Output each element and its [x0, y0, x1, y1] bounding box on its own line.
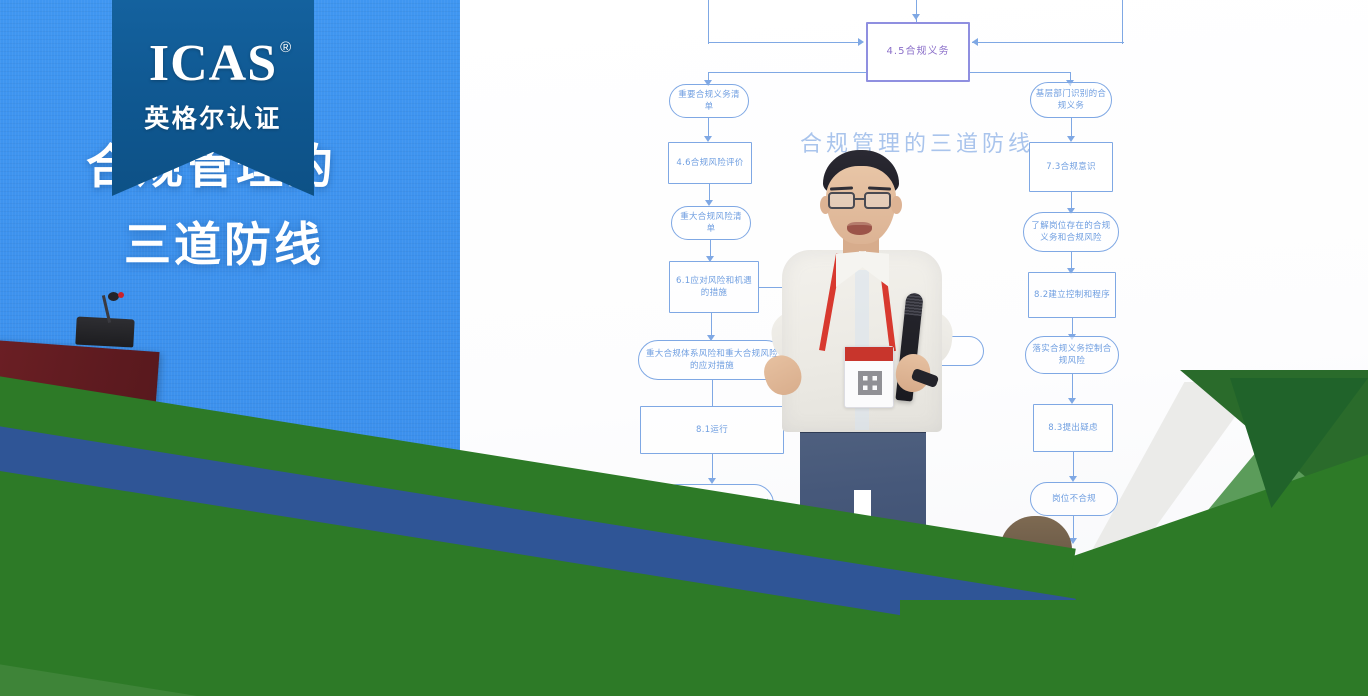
flow-arrow: [912, 14, 920, 20]
icas-wordmark: ICAS ®: [149, 38, 277, 90]
flow-node-left-3: 重大合规风险清单: [671, 206, 751, 240]
flow-connector: [1122, 0, 1123, 44]
icas-chinese-name: 英格尔认证: [144, 99, 282, 135]
flow-node-right-4: 8.2建立控制和程序: [1028, 272, 1116, 318]
flow-arrow: [858, 38, 864, 46]
podium-microphone-base: [75, 317, 134, 348]
flow-node-emphasis: 4.5合规义务: [866, 22, 970, 82]
flow-node-left-1: 重要合规义务清单: [669, 84, 749, 118]
podium-microphone-led-icon: [118, 292, 124, 298]
registered-trademark-icon: ®: [280, 40, 292, 55]
wall-headline-line2: 三道防线: [124, 206, 324, 275]
flow-connector: [712, 380, 713, 406]
badge-header-strip: [845, 347, 893, 361]
flow-node-right-7: 岗位不合规: [1030, 482, 1118, 516]
flow-node-right-5: 落实合规义务控制合规风险: [1025, 336, 1119, 374]
flow-node-right-2: 7.3合规意识: [1029, 142, 1113, 192]
flow-connector: [970, 72, 1070, 73]
qr-code-icon: [858, 371, 882, 395]
flow-node-right-6: 8.3提出疑虑: [1033, 404, 1113, 452]
flow-node-left-4: 6.1应对风险和机遇的措施: [669, 261, 759, 313]
glasses-lens-left-icon: [828, 192, 855, 209]
presenter-name-badge: [844, 346, 894, 408]
presentation-screenshot: 合规管理的三道防线 4.5合规义务 重要合规义务清单 4.6合规风险评价 重大合…: [0, 0, 1368, 696]
flow-node-left-2: 4.6合规风险评价: [668, 142, 752, 184]
presenter-ear-right: [891, 196, 902, 214]
flow-node-right-1: 基层部门识别的合规义务: [1030, 82, 1112, 118]
microphone-grille-icon: [904, 292, 923, 316]
glasses-lens-right-icon: [864, 192, 891, 209]
flow-connector: [708, 0, 709, 44]
flow-connector: [972, 42, 1124, 43]
flow-connector: [708, 42, 862, 43]
presenter-mouth: [847, 222, 872, 235]
decorative-green-block-bottom-right: [900, 600, 1368, 696]
glasses-bridge-icon: [855, 198, 864, 200]
flow-connector: [708, 72, 866, 73]
flow-arrow: [972, 38, 978, 46]
flow-node-right-3: 了解岗位存在的合规义务和合规风险: [1023, 212, 1119, 252]
icas-wordmark-text: ICAS: [149, 35, 277, 92]
